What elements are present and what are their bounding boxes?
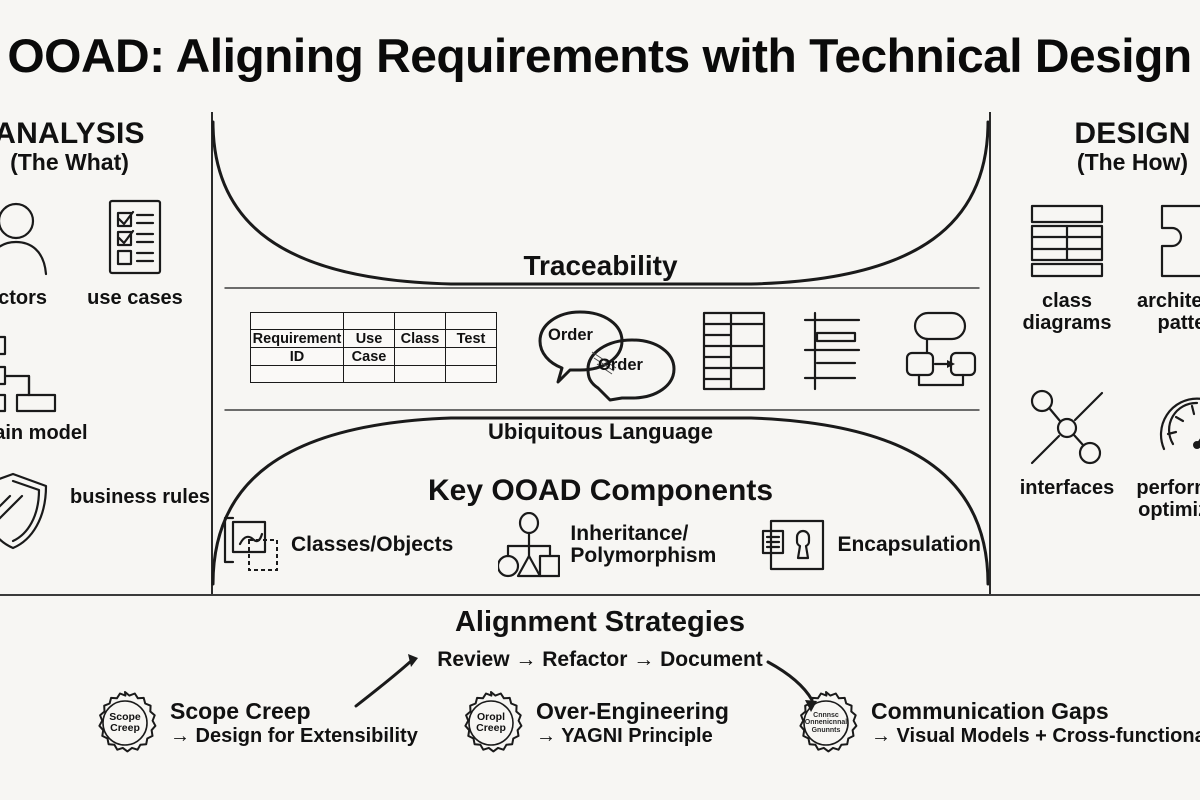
- pitfall-communication-gaps[interactable]: Cnnnsc Onnenicnnal Gnunnts Communication…: [793, 690, 1200, 756]
- seal-text: Scope Creep: [92, 690, 158, 756]
- analysis-item-label: business rules: [70, 486, 200, 508]
- table-row: [251, 366, 497, 383]
- class-diagram-icon: [1003, 198, 1131, 284]
- gauge-icon: [1133, 385, 1200, 471]
- components-row: Classes/Objects: [221, 512, 981, 578]
- classes-objects-icon: [221, 514, 281, 576]
- seal-text: Cnnnsc Onnenicnnal Gnunnts: [793, 690, 859, 756]
- design-item-performance-optimization[interactable]: performance optimization: [1133, 385, 1200, 521]
- puzzle-piece-icon: [1133, 198, 1200, 284]
- ubiquitous-language-title: Ubiquitous Language: [211, 419, 990, 445]
- analysis-heading-group: ANALYSIS (The What): [0, 118, 202, 175]
- component-label: Inheritance/ Polymorphism: [570, 523, 716, 568]
- analysis-item-label: domain model: [0, 422, 82, 444]
- col-header-requirement-2: ID: [251, 348, 344, 366]
- bubble-label-1: Order: [548, 326, 593, 345]
- col-header-test: Test: [446, 330, 497, 348]
- col-header-requirement: Requirement: [251, 330, 344, 348]
- component-inheritance-polymorphism[interactable]: Inheritance/ Polymorphism: [498, 512, 716, 578]
- traceability-matrix-table: Requirement Use Class Test ID Case: [250, 312, 497, 383]
- pitfall-name: Over-Engineering: [536, 699, 729, 725]
- col-header-use-2: Case: [344, 348, 395, 366]
- pitfall-name: Communication Gaps: [871, 699, 1200, 725]
- pitfalls-row: Scope Creep Scope Creep → Design for Ext…: [0, 682, 1200, 792]
- pitfall-over-engineering[interactable]: Oropl Creep Over-Engineering → YAGNI Pri…: [458, 690, 729, 756]
- pitfall-remedy: → YAGNI Principle: [536, 725, 729, 747]
- infographic-canvas: OOAD: Aligning Requirements with Technic…: [0, 0, 1200, 800]
- design-heading: DESIGN: [1000, 118, 1200, 150]
- seal-text-line2: Creep: [476, 723, 506, 734]
- interface-node-icon: [1003, 385, 1131, 471]
- traceability-icon-row: [701, 310, 981, 392]
- design-item-label-2: patterns: [1133, 312, 1200, 334]
- analysis-item-business-rules[interactable]: business rules: [70, 486, 200, 508]
- state-flow-icon: [901, 310, 981, 392]
- component-label: Classes/Objects: [291, 534, 453, 556]
- seal-text-line2: Creep: [110, 723, 140, 734]
- components-title: Key OOAD Components: [211, 474, 990, 508]
- component-label-line2: Polymorphism: [570, 544, 716, 567]
- pitfall-remedy: → Design for Extensibility: [170, 725, 418, 747]
- checklist-document-icon: [70, 195, 200, 281]
- pitfall-scope-creep[interactable]: Scope Creep Scope Creep → Design for Ext…: [92, 690, 418, 756]
- col-header-class: Class: [395, 330, 446, 348]
- pitfall-text: Over-Engineering → YAGNI Principle: [536, 699, 729, 747]
- design-item-label-2: diagrams: [1003, 312, 1131, 334]
- design-heading-group: DESIGN (The How): [1000, 118, 1200, 175]
- page-title-text: OOAD: Aligning Requirements with Technic…: [8, 28, 1192, 83]
- lock-card-icon: [761, 517, 827, 573]
- hierarchy-tree-icon: [0, 330, 82, 416]
- design-item-label-1: performance: [1133, 477, 1200, 499]
- analysis-subheading: (The What): [0, 150, 202, 175]
- design-item-label-1: architectural: [1133, 290, 1200, 312]
- center-panel: Traceability Requirement Use Class Test …: [211, 112, 990, 594]
- seal-badge-icon: Cnnnsc Onnenicnnal Gnunnts: [793, 690, 859, 756]
- seal-badge-icon: Oropl Creep: [458, 690, 524, 756]
- pitfall-remedy: → Visual Models + Cross-functional: [871, 725, 1200, 747]
- traceability-title: Traceability: [211, 250, 990, 282]
- pitfall-name: Scope Creep: [170, 699, 418, 725]
- inheritance-tree-icon: [498, 512, 560, 578]
- component-encapsulation[interactable]: Encapsulation: [761, 517, 981, 573]
- table-row: [251, 313, 497, 330]
- analysis-item-use-cases[interactable]: use cases: [70, 195, 200, 309]
- sequence-diagram-icon: [803, 310, 865, 392]
- pitfall-text: Communication Gaps → Visual Models + Cro…: [871, 699, 1200, 747]
- design-subheading: (The How): [1000, 150, 1200, 175]
- table-row: Requirement Use Class Test: [251, 330, 497, 348]
- analysis-item-domain-model[interactable]: domain model: [0, 330, 82, 444]
- component-classes-objects[interactable]: Classes/Objects: [221, 514, 453, 576]
- seal-badge-icon: Scope Creep: [92, 690, 158, 756]
- alignment-strategies-section: Alignment Strategies Review → Refactor →…: [0, 596, 1200, 800]
- shield-icon: [0, 468, 78, 554]
- seal-text-line2: Onnenicnnal Gnunnts: [793, 719, 859, 734]
- bubble-label-2: Order: [598, 356, 643, 375]
- seal-text: Oropl Creep: [458, 690, 524, 756]
- table-row: ID Case: [251, 348, 497, 366]
- seal-text-line1: Cnnnsc: [813, 712, 839, 720]
- design-item-class-diagrams[interactable]: class diagrams: [1003, 198, 1131, 334]
- component-label: Encapsulation: [837, 534, 981, 556]
- design-item-label-2: optimization: [1133, 499, 1200, 521]
- design-item-architectural-patterns[interactable]: architectural patterns: [1133, 198, 1200, 334]
- design-item-interfaces[interactable]: interfaces: [1003, 385, 1131, 499]
- col-header-use: Use: [344, 330, 395, 348]
- ubiquitous-language-bubbles: Order Order: [536, 310, 676, 400]
- component-label-line1: Inheritance/: [570, 522, 688, 545]
- analysis-item-business-rules-icon-cell[interactable]: [0, 468, 78, 554]
- pitfall-text: Scope Creep → Design for Extensibility: [170, 699, 418, 747]
- analysis-heading: ANALYSIS: [0, 118, 202, 150]
- matrix-grid-icon: [701, 310, 767, 392]
- page-title: OOAD: Aligning Requirements with Technic…: [0, 28, 1200, 83]
- design-item-label-1: interfaces: [1003, 477, 1131, 499]
- design-item-label-1: class: [1003, 290, 1131, 312]
- analysis-item-label: use cases: [70, 287, 200, 309]
